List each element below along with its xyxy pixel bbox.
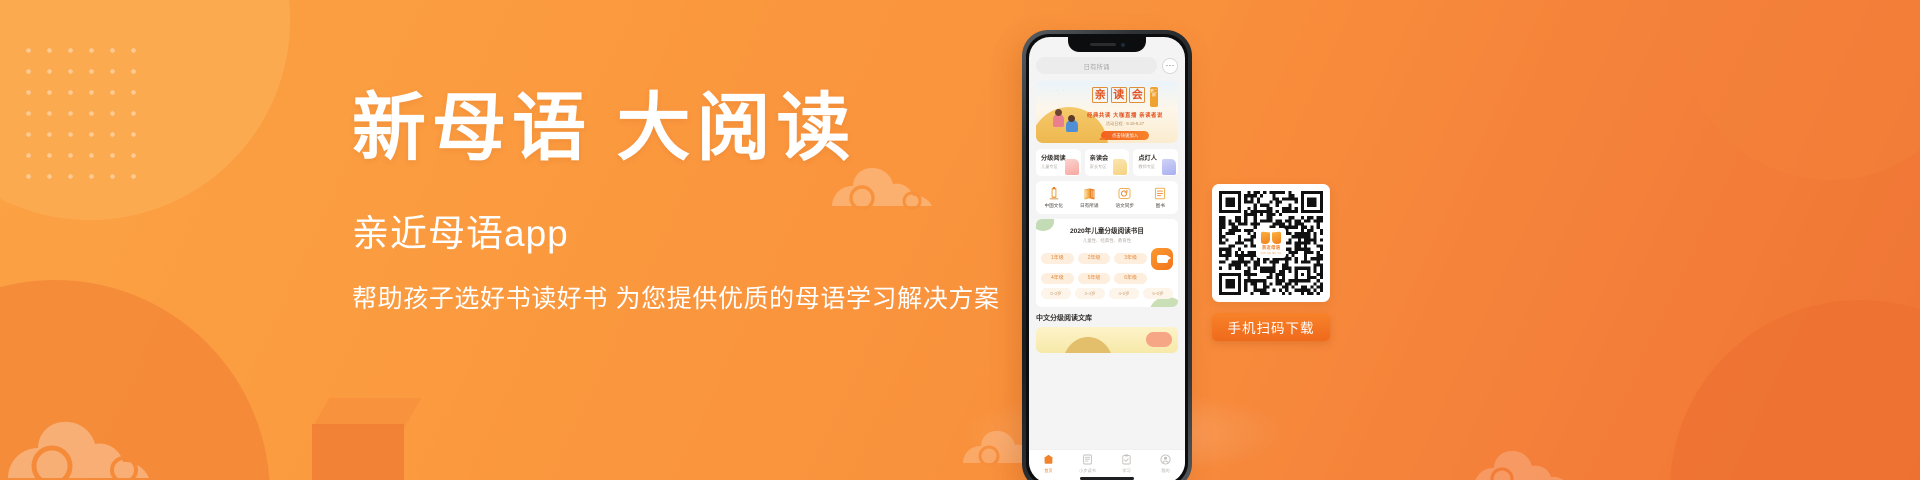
promo-banner: 新母语 大阅读 亲近母语app 帮助孩子选好书读好书 为您提供优质的母语学习解决… (0, 0, 1920, 480)
quick-entry-sync[interactable]: 语文同步 (1107, 186, 1143, 209)
quick-entry-recite[interactable]: 日有所诵 (1072, 186, 1108, 209)
app-search-row: 日有所诵 (1036, 57, 1178, 74)
grade-chip-row: 1年级 2年级 3年级 (1041, 248, 1173, 270)
hero-title-char: 会 (1129, 87, 1145, 103)
decor-cloud-right (1470, 426, 1620, 480)
decor-blob-bottom-right (1670, 300, 1920, 480)
grade-chip[interactable]: 1年级 (1041, 253, 1074, 264)
search-input[interactable]: 日有所诵 (1036, 57, 1157, 74)
phone-mockup: 日有所诵 · · · 亲 (1022, 30, 1192, 480)
library-pill-decor (1146, 332, 1172, 347)
category-card-teacher[interactable]: 点灯人 教师专区 (1133, 149, 1178, 176)
front-camera-icon (1121, 43, 1125, 47)
qr-code[interactable]: 亲近母语 QIN JIN MU YU (1212, 184, 1330, 302)
tab-label: 首页 (1029, 468, 1068, 474)
hero-title-char: 亲 (1092, 87, 1108, 103)
tab-label: 我的 (1146, 468, 1185, 474)
culture-icon (1036, 186, 1072, 200)
banner-tagline: 帮助孩子选好书读好书 为您提供优质的母语学习解决方案 (352, 283, 1032, 316)
decor-dot-grid (18, 40, 146, 190)
leaf-decor-bottom-right (1150, 297, 1178, 307)
decor-blob-right (1680, 0, 1920, 180)
category-card-row: 分级阅读 儿童专区 亲读会 家长专区 点灯人 教师专区 (1036, 149, 1178, 176)
grade-chip[interactable]: 6年级 (1114, 273, 1147, 284)
grade-chip[interactable]: 4年级 (1041, 273, 1074, 284)
banner-subtitle: 亲近母语app (352, 211, 1032, 257)
birds-decor-icon: · · · (1050, 88, 1066, 93)
book-ribbon-icon (1065, 159, 1079, 175)
quick-entry-label: 中国文化 (1036, 203, 1072, 209)
age-chip-row: 0-3岁 3-4岁 4-5岁 5-6岁 (1041, 288, 1173, 299)
booklist-title: 2020年儿童分级阅读书目 (1041, 225, 1173, 235)
hero-issue-tag: 第二期 (1150, 87, 1158, 107)
age-chip[interactable]: 5-6岁 (1143, 288, 1173, 299)
app-content: 日有所诵 · · · 亲 (1029, 37, 1185, 353)
speaker-grille-icon (1090, 43, 1116, 46)
phone-screen: 日有所诵 · · · 亲 (1029, 37, 1185, 480)
read-icon (1068, 454, 1107, 466)
hero-subtitle: 经典共读 大咖直播 亲读者说 (1077, 111, 1173, 119)
phone-bezel: 日有所诵 · · · 亲 (1026, 34, 1188, 480)
qr-center-logo: 亲近母语 QIN JIN MU YU (1256, 228, 1286, 258)
lamp-icon (1162, 159, 1176, 175)
book-icon (1143, 186, 1179, 200)
banner-copy: 新母语 大阅读 亲近母语app 帮助孩子选好书读好书 为您提供优质的母语学习解决… (352, 88, 1032, 316)
decor-cloud-left (0, 370, 210, 480)
grade-chip[interactable]: 5年级 (1078, 273, 1111, 284)
hero-banner-card[interactable]: · · · 亲 读 会 第二期 经典共读 大咖直播 亲读者说 (1036, 81, 1178, 143)
tab-label: 小步读书 (1068, 468, 1107, 474)
category-card-parent-club[interactable]: 亲读会 家长专区 (1085, 149, 1130, 176)
age-chip[interactable]: 4-5岁 (1109, 288, 1139, 299)
tab-label: 学习 (1107, 468, 1146, 474)
quick-entry-label: 日有所诵 (1072, 203, 1108, 209)
note-icon (1113, 159, 1127, 175)
library-card[interactable] (1036, 327, 1178, 353)
category-card-graded-reading[interactable]: 分级阅读 儿童专区 (1036, 149, 1081, 176)
video-play-icon[interactable] (1151, 248, 1173, 270)
decor-blob-bottom-left (0, 280, 270, 480)
sync-icon (1107, 186, 1143, 200)
quick-entry-books[interactable]: 图书 (1143, 186, 1179, 209)
quick-entry-label: 语文同步 (1107, 203, 1143, 209)
qr-download-group: 亲近母语 QIN JIN MU YU 手机扫码下载 (1212, 184, 1330, 341)
banner-headline: 新母语 大阅读 (352, 88, 1032, 171)
grade-chip[interactable]: 3年级 (1114, 253, 1147, 264)
tab-profile[interactable]: 我的 (1146, 454, 1185, 474)
profile-icon (1146, 454, 1185, 466)
hero-title-char: 读 (1111, 87, 1127, 103)
phone-notch (1068, 37, 1146, 52)
hero-title-row: 亲 读 会 第二期 (1077, 87, 1173, 107)
decor-cube-top (312, 398, 421, 428)
hero-text-group: 亲 读 会 第二期 经典共读 大咖直播 亲读者说 活动日程 · 9.16-9.2… (1077, 87, 1173, 140)
library-arc-decor (1062, 337, 1114, 353)
age-chip[interactable]: 0-3岁 (1041, 288, 1071, 299)
age-chip[interactable]: 3-4岁 (1075, 288, 1105, 299)
home-icon (1029, 454, 1068, 466)
booklist-chips: 1年级 2年级 3年级 4年级 5年级 6年级 (1041, 248, 1173, 299)
brand-name: 亲近母语 (1262, 245, 1280, 251)
grade-chip[interactable]: 2年级 (1078, 253, 1111, 264)
grade-chip-row: 4年级 5年级 6年级 (1041, 273, 1173, 284)
hero-kid-left-illustration (1053, 114, 1064, 127)
quick-entry-culture[interactable]: 中国文化 (1036, 186, 1072, 209)
study-icon (1107, 454, 1146, 466)
recite-icon (1072, 186, 1108, 200)
download-button[interactable]: 手机扫码下载 (1212, 313, 1330, 341)
tab-read[interactable]: 小步读书 (1068, 454, 1107, 474)
app-tab-bar: 首页 小步读书 (1029, 449, 1185, 480)
quick-entry-label: 图书 (1143, 203, 1179, 209)
hero-date: 活动日程 · 9.16-9.27 (1077, 121, 1173, 127)
tab-home[interactable]: 首页 (1029, 454, 1068, 474)
carousel-dots[interactable] (1100, 138, 1115, 141)
tab-study[interactable]: 学习 (1107, 454, 1146, 474)
decor-blob-top-left (0, 0, 290, 220)
brand-book-icon (1261, 232, 1281, 244)
booklist-card[interactable]: 2020年儿童分级阅读书目 儿童性、经典性、教育性 1年级 2年级 3年级 (1036, 219, 1178, 307)
brand-name-pinyin: QIN JIN MU YU (1261, 252, 1282, 255)
quick-entry-row: 中国文化 日有所诵 (1036, 181, 1178, 214)
library-section-title: 中文分级阅读文库 (1036, 313, 1178, 323)
decor-cube (312, 424, 404, 480)
booklist-subtitle: 儿童性、经典性、教育性 (1041, 238, 1173, 244)
more-dots-icon[interactable] (1162, 58, 1178, 74)
